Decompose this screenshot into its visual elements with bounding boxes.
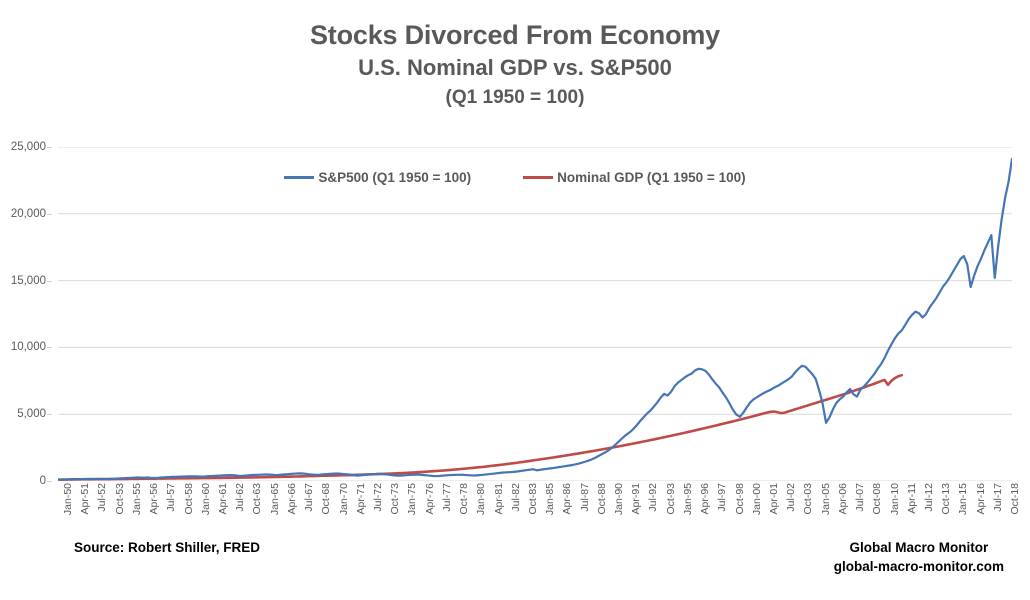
y-tick-mark: [47, 281, 52, 282]
gridlines: [58, 147, 1012, 481]
chart-subtitle-index-note: (Q1 1950 = 100): [0, 85, 1030, 111]
y-tick-mark: [47, 147, 52, 148]
x-tick-label: Jul-52: [96, 483, 108, 512]
x-tick-label: Jan-60: [200, 483, 212, 515]
x-tick-label: Jan-70: [338, 483, 350, 515]
x-tick-label: Jan-90: [613, 483, 625, 515]
x-tick-label: Jan-05: [820, 483, 832, 515]
x-tick-label: Apr-16: [975, 483, 987, 515]
x-tick-label: Apr-66: [286, 483, 298, 515]
x-tick-label: Oct-03: [802, 483, 814, 515]
x-tick-label: Apr-56: [148, 483, 160, 515]
x-tick-label: Apr-86: [561, 483, 573, 515]
y-tick-label: 5,000: [17, 408, 46, 420]
x-tick-label: Jul-97: [716, 483, 728, 512]
x-tick-label: Apr-71: [355, 483, 367, 515]
chart-container: Stocks Divorced From Economy U.S. Nomina…: [0, 0, 1030, 600]
x-tick-label: Apr-51: [79, 483, 91, 515]
x-tick-label: Apr-81: [493, 483, 505, 515]
x-tick-label: Jan-95: [682, 483, 694, 515]
x-tick-label: Jan-85: [544, 483, 556, 515]
x-tick-label: Jul-02: [785, 483, 797, 512]
x-axis: Jan-50Apr-51Jul-52Oct-53Jan-55Apr-56Jul-…: [58, 483, 1012, 535]
x-tick-label: Oct-88: [596, 483, 608, 515]
y-tick-mark: [47, 214, 52, 215]
x-tick-label: Jul-17: [992, 483, 1004, 512]
plot-svg: [58, 147, 1012, 481]
y-tick-mark: [47, 414, 52, 415]
x-tick-label: Jul-67: [303, 483, 315, 512]
source-note: Source: Robert Shiller, FRED: [74, 540, 260, 555]
x-tick-label: Jul-57: [165, 483, 177, 512]
x-tick-label: Jan-00: [751, 483, 763, 515]
x-tick-label: Jan-75: [406, 483, 418, 515]
x-tick-label: Jul-12: [923, 483, 935, 512]
x-tick-label: Apr-06: [837, 483, 849, 515]
x-tick-label: Jan-15: [957, 483, 969, 515]
y-tick-label: 25,000: [11, 141, 46, 153]
x-tick-label: Oct-93: [665, 483, 677, 515]
x-tick-label: Jan-10: [889, 483, 901, 515]
x-tick-label: Oct-13: [940, 483, 952, 515]
y-tick-label: 20,000: [11, 208, 46, 220]
plot-area: [58, 147, 1012, 481]
x-tick-label: Oct-58: [183, 483, 195, 515]
y-tick-label: 0: [40, 475, 46, 487]
x-tick-label: Oct-78: [458, 483, 470, 515]
x-tick-label: Oct-53: [114, 483, 126, 515]
x-tick-label: Apr-91: [630, 483, 642, 515]
x-tick-label: Jan-65: [269, 483, 281, 515]
x-tick-label: Jul-62: [234, 483, 246, 512]
x-tick-label: Apr-61: [217, 483, 229, 515]
y-tick-mark: [47, 481, 52, 482]
x-tick-label: Apr-11: [906, 483, 918, 514]
x-tick-label: Jul-87: [579, 483, 591, 512]
attribution-site: global-macro-monitor.com: [834, 557, 1004, 576]
x-tick-label: Jul-77: [441, 483, 453, 512]
x-tick-label: Oct-83: [527, 483, 539, 515]
x-tick-label: Oct-68: [320, 483, 332, 515]
x-tick-label: Oct-18: [1009, 483, 1021, 515]
x-tick-label: Jan-55: [131, 483, 143, 515]
x-tick-label: Jul-92: [647, 483, 659, 512]
y-tick-mark: [47, 347, 52, 348]
attribution-brand: Global Macro Monitor: [834, 538, 1004, 557]
x-tick-label: Oct-08: [871, 483, 883, 515]
y-tick-label: 10,000: [11, 341, 46, 353]
x-tick-label: Oct-63: [251, 483, 263, 515]
x-tick-label: Oct-98: [734, 483, 746, 515]
chart-subtitle: U.S. Nominal GDP vs. S&P500: [0, 53, 1030, 83]
series-line-sp500: [58, 159, 1012, 480]
y-axis: 05,00010,00015,00020,00025,000: [0, 147, 52, 481]
x-tick-label: Jul-72: [372, 483, 384, 512]
x-tick-label: Jul-07: [854, 483, 866, 512]
page-title: Stocks Divorced From Economy: [0, 18, 1030, 52]
x-tick-label: Jan-50: [62, 483, 74, 515]
y-tick-label: 15,000: [11, 275, 46, 287]
x-tick-label: Oct-73: [389, 483, 401, 515]
chart-title-block: Stocks Divorced From Economy U.S. Nomina…: [0, 18, 1030, 111]
x-tick-label: Apr-76: [424, 483, 436, 515]
x-tick-label: Apr-01: [768, 483, 780, 515]
x-tick-label: Apr-96: [699, 483, 711, 515]
series-line-gdp: [58, 375, 902, 479]
x-tick-label: Jul-82: [510, 483, 522, 512]
x-tick-label: Jan-80: [475, 483, 487, 515]
attribution-block: Global Macro Monitor global-macro-monito…: [834, 538, 1004, 576]
